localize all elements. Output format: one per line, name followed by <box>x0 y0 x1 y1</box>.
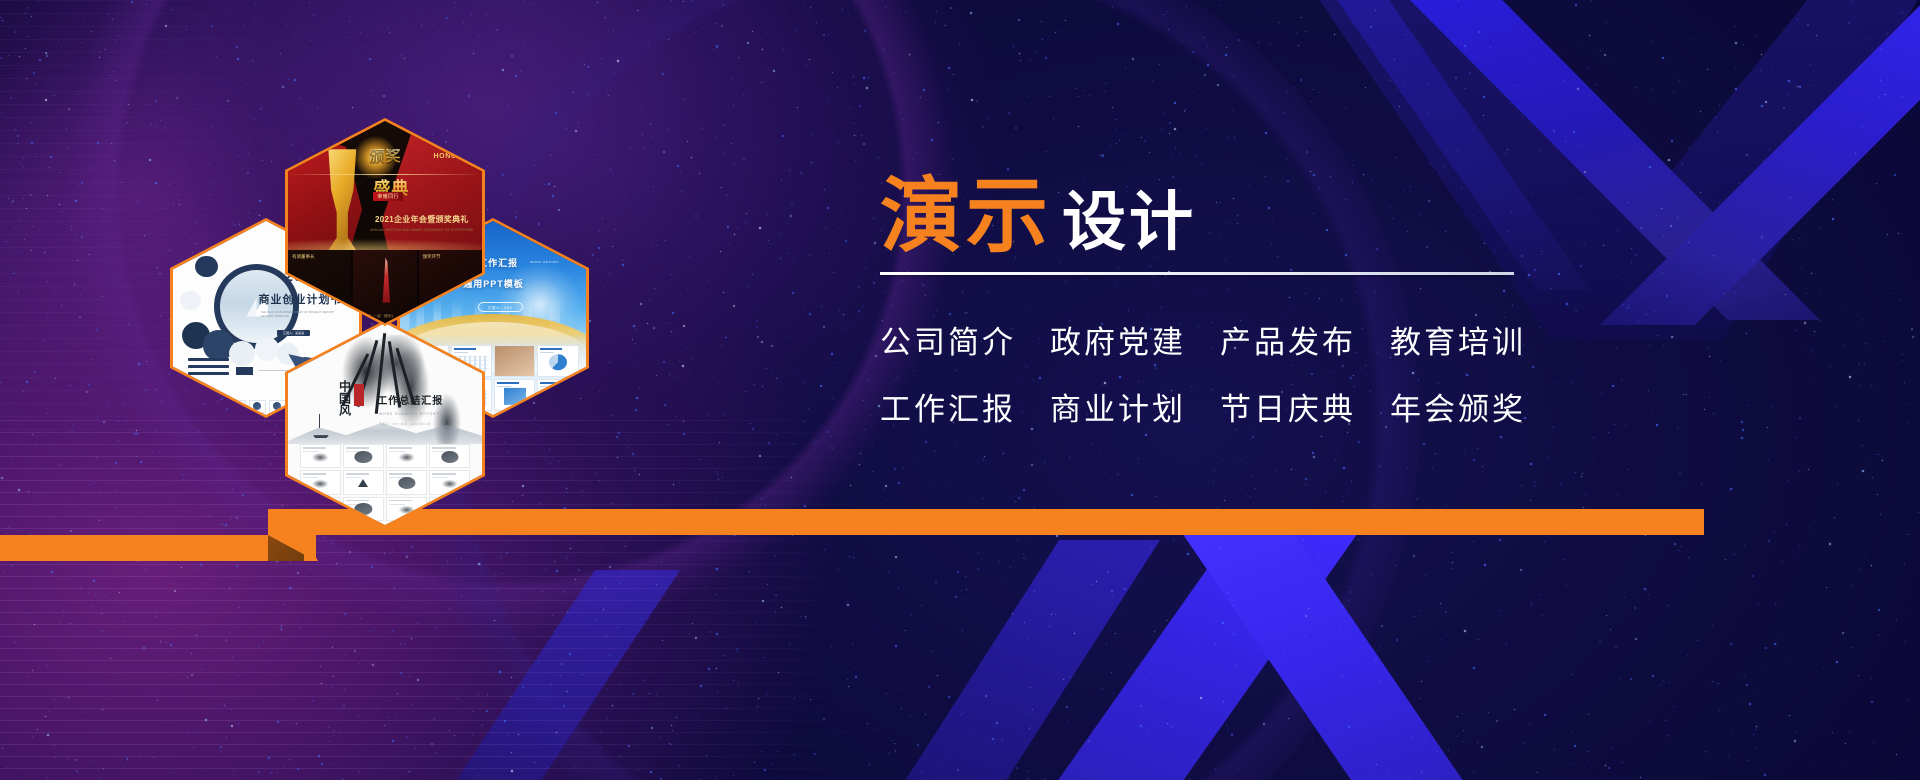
tag-product-launch[interactable]: 产品发布 <box>1220 317 1356 362</box>
tag-festival[interactable]: 节日庆典 <box>1220 384 1356 429</box>
thumb-award-cell-label: 颁奖环节 <box>423 254 441 260</box>
thumb-year-line1-small: WORK REPORT <box>530 260 559 264</box>
headline-block: 演示 设计 公司简介 政府党建 产品发布 教育培训 工作汇报 商业计划 节日庆典… <box>880 176 1520 451</box>
tag-education[interactable]: 教育培训 <box>1390 317 1526 362</box>
template-thumbnail-cluster: 2020 商业创业计划书 THE PLAN OF BUSINESS START … <box>180 108 650 478</box>
promo-banner: 2020 商业创业计划书 THE PLAN OF BUSINESS START … <box>0 0 1920 780</box>
tag-work-report[interactable]: 工作汇报 <box>880 384 1016 429</box>
thumb-award-chip: 荣耀同行 <box>373 192 403 201</box>
tag-business-plan[interactable]: 商业计划 <box>1050 384 1186 429</box>
thumb-business-chip: 汇报人：某某某 <box>277 330 310 336</box>
thumb-award-subtitle: 2021企业年会暨颁奖典礼 <box>366 214 479 225</box>
accent-bar-upper <box>268 509 1704 535</box>
category-tags: 公司简介 政府党建 产品发布 教育培训 工作汇报 商业计划 节日庆典 年会颁奖 <box>880 317 1520 429</box>
title-highlight: 演示 <box>880 176 1052 258</box>
title-rest: 设计 <box>1062 191 1196 255</box>
title-divider <box>880 272 1514 275</box>
tag-row-1: 公司简介 政府党建 产品发布 教育培训 <box>880 317 1520 362</box>
thumb-award-title-a: 颁奖 <box>369 149 478 165</box>
tag-annual-award[interactable]: 年会颁奖 <box>1390 384 1526 429</box>
thumb-award-english: HONO <box>434 153 457 160</box>
thumb-award-subtitle-small: ANNUAL MEETING AND AWARD CEREMONY OF ENT… <box>369 228 474 232</box>
tag-row-2: 工作汇报 商业计划 节日庆典 年会颁奖 <box>880 384 1520 429</box>
thumb-year-pill: 汇报人：XXX <box>478 302 523 312</box>
tag-company-intro[interactable]: 公司简介 <box>880 317 1016 362</box>
page-title: 演示 设计 <box>880 176 1520 258</box>
thumb-award-cell: 光芒绽放 · 一起 · 燃烧斗 <box>353 250 416 323</box>
thumb-award-cell-sub: 光芒绽放 · 一起 · 燃烧斗 <box>357 313 394 318</box>
thumb-china-mark: 中国风 <box>338 380 350 416</box>
thumb-award-cell-label: 有请董事长 <box>292 254 315 260</box>
tag-government[interactable]: 政府党建 <box>1050 317 1186 362</box>
thumb-business-small: THE PLAN OF BUSINESS START UP PROJECT RE… <box>260 310 346 318</box>
